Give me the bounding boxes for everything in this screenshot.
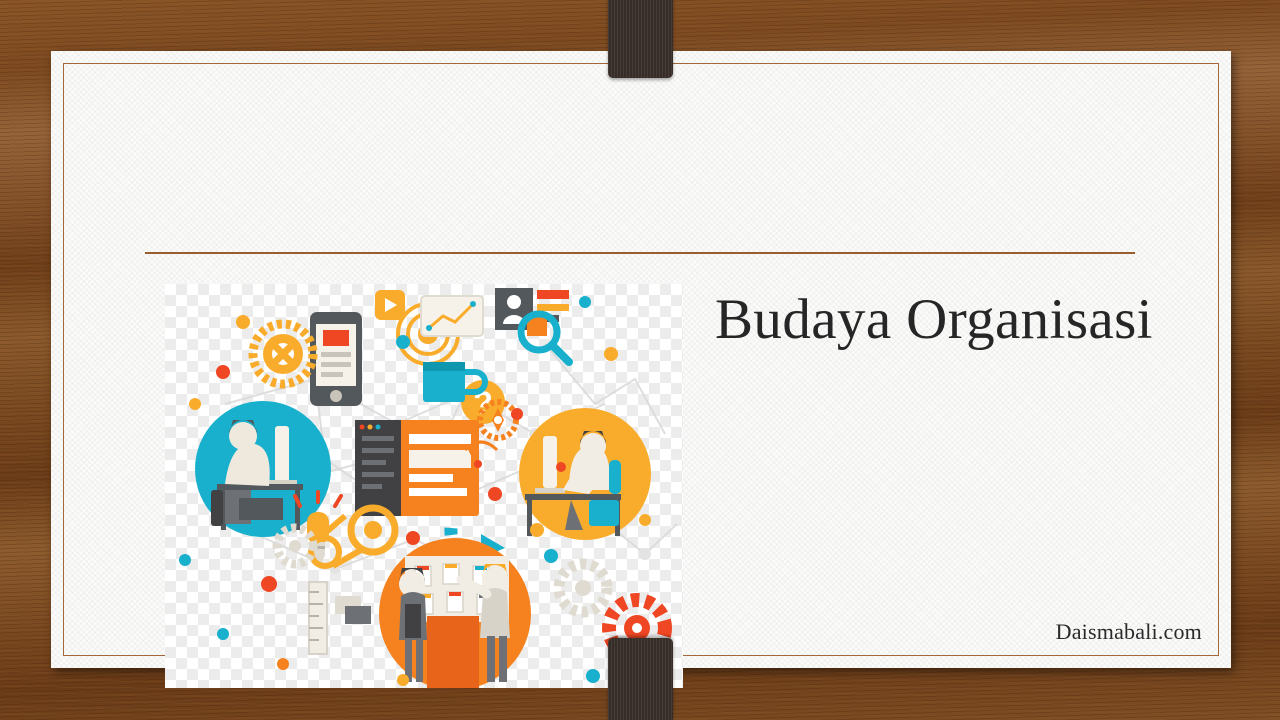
illustration-image: ? bbox=[165, 284, 683, 688]
person-at-desk-amber-icon bbox=[519, 408, 651, 540]
binder-clip-bottom-icon bbox=[608, 638, 673, 720]
id-card-search-icon bbox=[495, 288, 569, 362]
slide-paper-card: Budaya Organisasi Daismabali.com bbox=[51, 51, 1231, 668]
footer-credit: Daismabali.com bbox=[1056, 619, 1202, 645]
line-chart-card-icon bbox=[421, 296, 483, 336]
smartphone-icon bbox=[310, 312, 362, 406]
title-divider-rule bbox=[145, 252, 1135, 254]
binder-clip-top-icon bbox=[608, 0, 673, 78]
team-at-board-orange-icon bbox=[379, 538, 531, 688]
illustration-svg: ? bbox=[165, 284, 683, 688]
page-title: Budaya Organisasi bbox=[715, 289, 1235, 352]
play-button-icon bbox=[375, 290, 405, 320]
slide-canvas: Budaya Organisasi Daismabali.com bbox=[0, 0, 1280, 720]
gear-wheel-icon bbox=[253, 324, 313, 384]
ruler-icon bbox=[309, 582, 371, 654]
monitor-window-icon bbox=[355, 420, 479, 516]
